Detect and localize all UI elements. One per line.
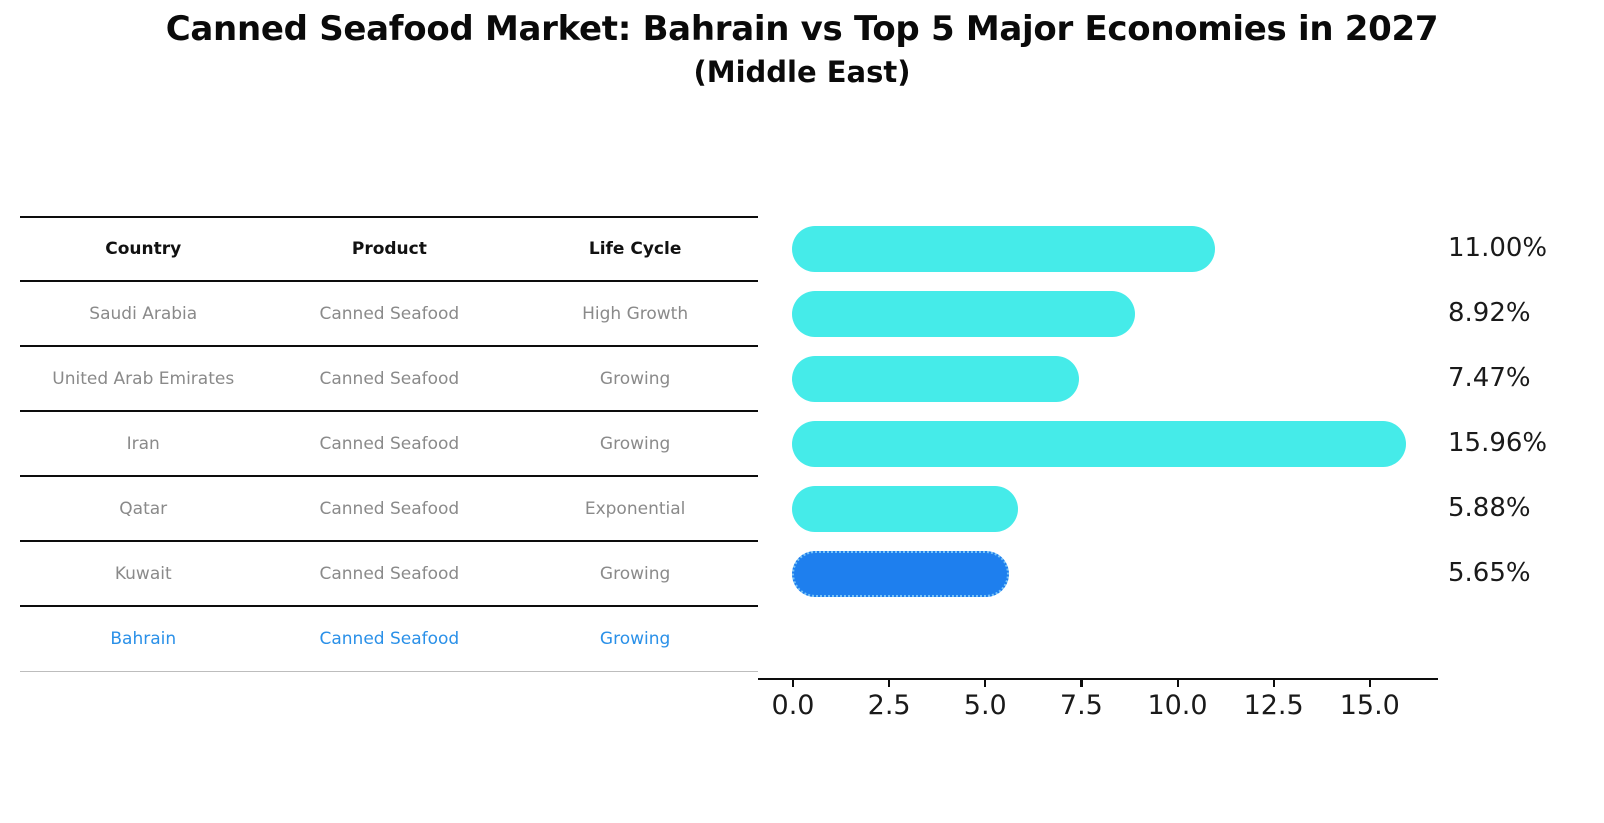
bar-row: 7.47% (758, 346, 1458, 411)
bar-value-label: 8.92% (1448, 298, 1531, 328)
cell-country: Bahrain (20, 606, 266, 671)
cell-country: United Arab Emirates (20, 346, 266, 411)
x-axis: 0.02.55.07.510.012.515.0 (758, 678, 1458, 738)
bar-kuwait[interactable] (792, 486, 1018, 532)
bar-row: 8.92% (758, 281, 1458, 346)
cell-life-cycle: High Growth (512, 281, 758, 346)
x-axis-tick (1177, 678, 1179, 687)
table-row: QatarCanned SeafoodExponential (20, 476, 758, 541)
bar-saudi-arabia[interactable] (792, 226, 1215, 272)
cell-country: Saudi Arabia (20, 281, 266, 346)
bar-qatar[interactable] (792, 421, 1406, 467)
bar-value-label: 15.96% (1448, 428, 1547, 458)
bar-value-label: 11.00% (1448, 233, 1547, 263)
cell-life-cycle: Growing (512, 346, 758, 411)
bar-united-arab-emirates[interactable] (792, 291, 1135, 337)
table-body: Saudi ArabiaCanned SeafoodHigh GrowthUni… (20, 281, 758, 671)
bar-row: 11.00% (758, 216, 1458, 281)
plot-area: 11.00%8.92%7.47%15.96%5.88%5.65% (758, 216, 1458, 678)
table-row: KuwaitCanned SeafoodGrowing (20, 541, 758, 606)
title-block: Canned Seafood Market: Bahrain vs Top 5 … (0, 8, 1604, 91)
bar-bahrain[interactable] (792, 551, 1009, 597)
x-axis-line (758, 678, 1438, 680)
x-axis-tick (1080, 678, 1082, 687)
cell-country: Kuwait (20, 541, 266, 606)
cell-product: Canned Seafood (266, 411, 512, 476)
x-axis-tick-label: 10.0 (1147, 690, 1207, 721)
chart-subtitle: (Middle East) (0, 54, 1604, 92)
cell-life-cycle: Exponential (512, 476, 758, 541)
bar-value-label: 5.88% (1448, 493, 1531, 523)
table-row: United Arab EmiratesCanned SeafoodGrowin… (20, 346, 758, 411)
x-axis-tick-label: 7.5 (1060, 690, 1103, 721)
column-header-life-cycle: Life Cycle (512, 217, 758, 281)
chart-title: Canned Seafood Market: Bahrain vs Top 5 … (0, 8, 1604, 52)
bar-value-label: 7.47% (1448, 363, 1531, 393)
table-header-row: Country Product Life Cycle (20, 217, 758, 281)
bar-chart-panel: 11.00%8.92%7.47%15.96%5.88%5.65% (758, 216, 1458, 678)
column-header-product: Product (266, 217, 512, 281)
table-row: IranCanned SeafoodGrowing (20, 411, 758, 476)
x-axis-tick-label: 15.0 (1340, 690, 1400, 721)
x-axis-tick-label: 5.0 (964, 690, 1007, 721)
table-row: Saudi ArabiaCanned SeafoodHigh Growth (20, 281, 758, 346)
cell-life-cycle: Growing (512, 606, 758, 671)
cell-country: Qatar (20, 476, 266, 541)
column-header-country: Country (20, 217, 266, 281)
bar-row: 5.65% (758, 541, 1458, 606)
x-axis-tick-label: 0.0 (772, 690, 815, 721)
cell-life-cycle: Growing (512, 411, 758, 476)
x-axis-tick (792, 678, 794, 687)
bar-row: 5.88% (758, 476, 1458, 541)
bar-value-label: 5.65% (1448, 558, 1531, 588)
x-axis-tick (1273, 678, 1275, 687)
x-axis-tick-label: 12.5 (1244, 690, 1304, 721)
table-header: Country Product Life Cycle (20, 217, 758, 281)
x-axis-tick (888, 678, 890, 687)
cell-product: Canned Seafood (266, 606, 512, 671)
cell-country: Iran (20, 411, 266, 476)
cell-product: Canned Seafood (266, 541, 512, 606)
bar-row: 15.96% (758, 411, 1458, 476)
cell-product: Canned Seafood (266, 476, 512, 541)
table-row: BahrainCanned SeafoodGrowing (20, 606, 758, 671)
bar-iran[interactable] (792, 356, 1079, 402)
x-axis-tick (1369, 678, 1371, 687)
cell-product: Canned Seafood (266, 346, 512, 411)
x-axis-tick-label: 2.5 (868, 690, 911, 721)
x-axis-tick (984, 678, 986, 687)
cell-product: Canned Seafood (266, 281, 512, 346)
cell-life-cycle: Growing (512, 541, 758, 606)
country-table-panel: Country Product Life Cycle Saudi ArabiaC… (20, 216, 758, 672)
country-table: Country Product Life Cycle Saudi ArabiaC… (20, 216, 758, 672)
